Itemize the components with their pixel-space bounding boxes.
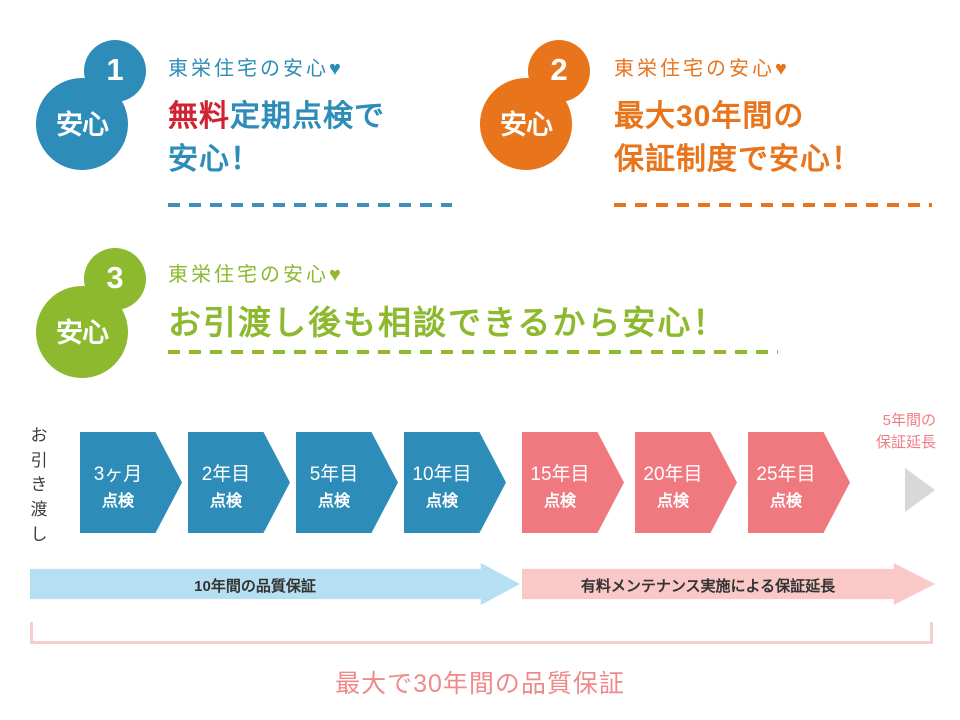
timeline-step[interactable]: 10年目 点検 bbox=[404, 432, 506, 533]
timeline-step-period: 10年目 bbox=[404, 459, 480, 486]
handover-char-2: 引 bbox=[26, 449, 52, 474]
section-2-headline-line2: 保証制度で安心！ bbox=[614, 139, 862, 182]
badge-section-2: 2 安心 bbox=[480, 40, 596, 170]
timeline-step-period: 3ヶ月 bbox=[80, 459, 156, 486]
section-2-headline-line1: 最大30年間の bbox=[614, 96, 804, 139]
quality-warranty-bar: 10年間の品質保証 bbox=[30, 563, 520, 605]
section-1-emphasis: 無料 bbox=[168, 100, 230, 133]
quality-warranty-bar-label: 10年間の品質保証 bbox=[30, 575, 480, 596]
warranty-extension-note-line2: 保証延長 bbox=[846, 432, 936, 454]
timeline-step-period: 2年目 bbox=[188, 459, 264, 486]
handover-char-1: お bbox=[26, 424, 52, 449]
timeline-step[interactable]: 5年目 点検 bbox=[296, 432, 398, 533]
paid-maintenance-extension-bar: 有料メンテナンス実施による保証延長 bbox=[522, 563, 935, 605]
timeline-step-period: 15年目 bbox=[522, 459, 598, 486]
paid-maintenance-extension-bar-label: 有料メンテナンス実施による保証延長 bbox=[522, 575, 894, 596]
total-warranty-caption: 最大で30年間の品質保証 bbox=[0, 664, 960, 700]
handover-char-5: し bbox=[26, 523, 52, 548]
badge-anshin-label-2: 安心 bbox=[480, 78, 572, 170]
section-3-divider bbox=[168, 350, 778, 354]
section-1-headline-line2: 安心！ bbox=[168, 139, 261, 182]
section-2-divider bbox=[614, 203, 932, 207]
right-arrow-icon bbox=[905, 468, 935, 512]
section-1-headline-rest: 定期点検で bbox=[230, 100, 385, 133]
section-2-subtitle: 東栄住宅の安心♥ bbox=[614, 52, 790, 81]
badge-section-1: 1 安心 bbox=[36, 40, 152, 170]
timeline-step-period: 5年目 bbox=[296, 459, 372, 486]
section-1-divider bbox=[168, 203, 452, 207]
timeline-step-kind: 点検 bbox=[188, 487, 264, 511]
timeline-step-kind: 点検 bbox=[522, 487, 598, 511]
timeline-step-period: 25年目 bbox=[748, 459, 824, 486]
handover-vertical-label: お 引 き 渡 し bbox=[26, 424, 52, 547]
handover-char-4: 渡 bbox=[26, 498, 52, 523]
timeline-step-kind: 点検 bbox=[635, 487, 711, 511]
section-1-headline-line1: 無料定期点検で bbox=[168, 96, 385, 139]
timeline-step[interactable]: 2年目 点検 bbox=[188, 432, 290, 533]
badge-anshin-label-3: 安心 bbox=[36, 286, 128, 378]
section-3-subtitle: 東栄住宅の安心♥ bbox=[168, 258, 344, 287]
timeline-step-kind: 点検 bbox=[404, 487, 480, 511]
timeline-step-period: 20年目 bbox=[635, 459, 711, 486]
section-3-headline-line1: お引渡し後も相談できるから安心！ bbox=[168, 300, 727, 347]
timeline-step[interactable]: 3ヶ月 点検 bbox=[80, 432, 182, 533]
handover-char-3: き bbox=[26, 473, 52, 498]
timeline-step[interactable]: 20年目 点検 bbox=[635, 432, 737, 533]
timeline-step-kind: 点検 bbox=[296, 487, 372, 511]
badge-anshin-label-1: 安心 bbox=[36, 78, 128, 170]
warranty-extension-note: 5年間の 保証延長 bbox=[846, 410, 936, 454]
timeline-step[interactable]: 15年目 点検 bbox=[522, 432, 624, 533]
timeline-step-kind: 点検 bbox=[80, 487, 156, 511]
timeline-step-kind: 点検 bbox=[748, 487, 824, 511]
warranty-extension-note-line1: 5年間の bbox=[846, 410, 936, 432]
total-span-bracket bbox=[30, 622, 933, 644]
section-1-subtitle: 東栄住宅の安心♥ bbox=[168, 52, 344, 81]
badge-section-3: 3 安心 bbox=[36, 248, 152, 378]
timeline-step[interactable]: 25年目 点検 bbox=[748, 432, 850, 533]
